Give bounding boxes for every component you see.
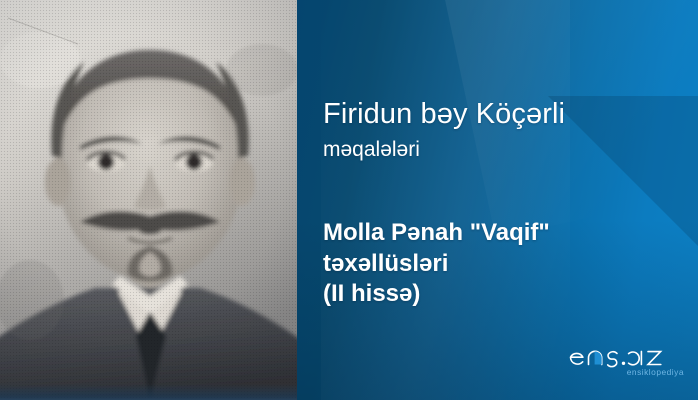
- portrait-photo: [0, 0, 297, 400]
- ens-az-tagline: ensiklopediya: [627, 367, 684, 377]
- panel-dark-wedge: [548, 96, 698, 246]
- page-subtitle: məqalələri: [323, 137, 565, 162]
- headline-group: Molla Pənah "Vaqif" təxəllüsləri (II his…: [323, 218, 550, 310]
- headline-line-3: (II hissə): [323, 279, 550, 310]
- article-banner: Firidun bəy Köçərli məqalələri Molla Pən…: [0, 0, 698, 400]
- blue-content-panel: Firidun bəy Köçərli məqalələri Molla Pən…: [297, 0, 698, 400]
- page-title: Firidun bəy Köçərli: [323, 98, 565, 130]
- ens-az-logo[interactable]: ensiklopediya: [566, 344, 684, 382]
- headline-line-2: təxəllüsləri: [323, 249, 550, 280]
- ens-az-logo-mark: ensiklopediya: [566, 344, 684, 382]
- headline-line-1: Molla Pənah "Vaqif": [323, 218, 550, 249]
- portrait-illustration: [0, 0, 297, 400]
- panel-sheen: [321, 0, 570, 400]
- title-group: Firidun bəy Köçərli məqalələri: [323, 98, 565, 163]
